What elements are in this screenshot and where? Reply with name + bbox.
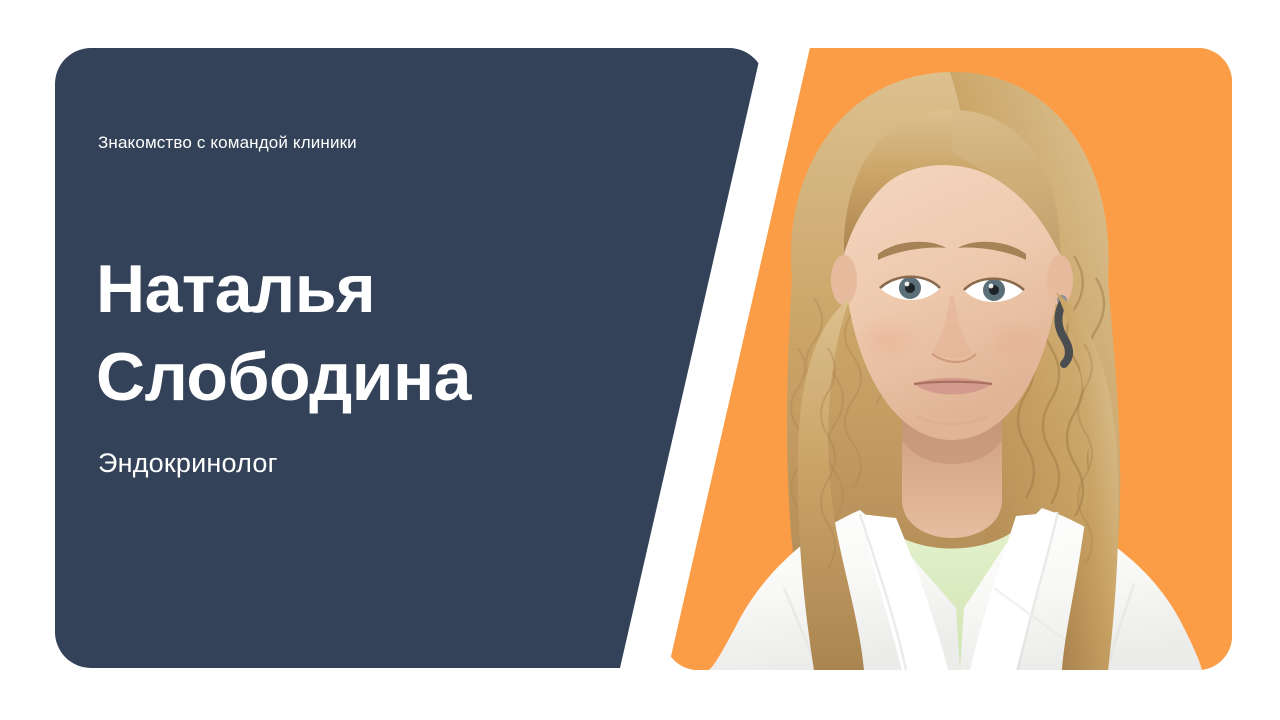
doctor-specialty: Эндокринолог bbox=[98, 448, 278, 479]
cheek-right bbox=[982, 318, 1050, 366]
portrait-illustration bbox=[664, 48, 1232, 670]
doctor-portrait-image bbox=[664, 48, 1232, 670]
photo-panel bbox=[664, 48, 1232, 670]
ear-left bbox=[831, 255, 857, 305]
slide-canvas: Знакомство с командой клиники Наталья Сл… bbox=[0, 0, 1280, 720]
doctor-name: Наталья Слободина bbox=[96, 245, 471, 421]
info-panel: Знакомство с командой клиники Наталья Сл… bbox=[55, 48, 765, 668]
info-panel-content: Знакомство с командой клиники Наталья Сл… bbox=[98, 48, 618, 668]
doctor-first-name: Наталья bbox=[96, 245, 471, 333]
doctor-last-name: Слободина bbox=[96, 333, 471, 421]
cheek-left bbox=[854, 316, 922, 364]
panel-eyebrow-text: Знакомство с командой клиники bbox=[98, 133, 357, 153]
